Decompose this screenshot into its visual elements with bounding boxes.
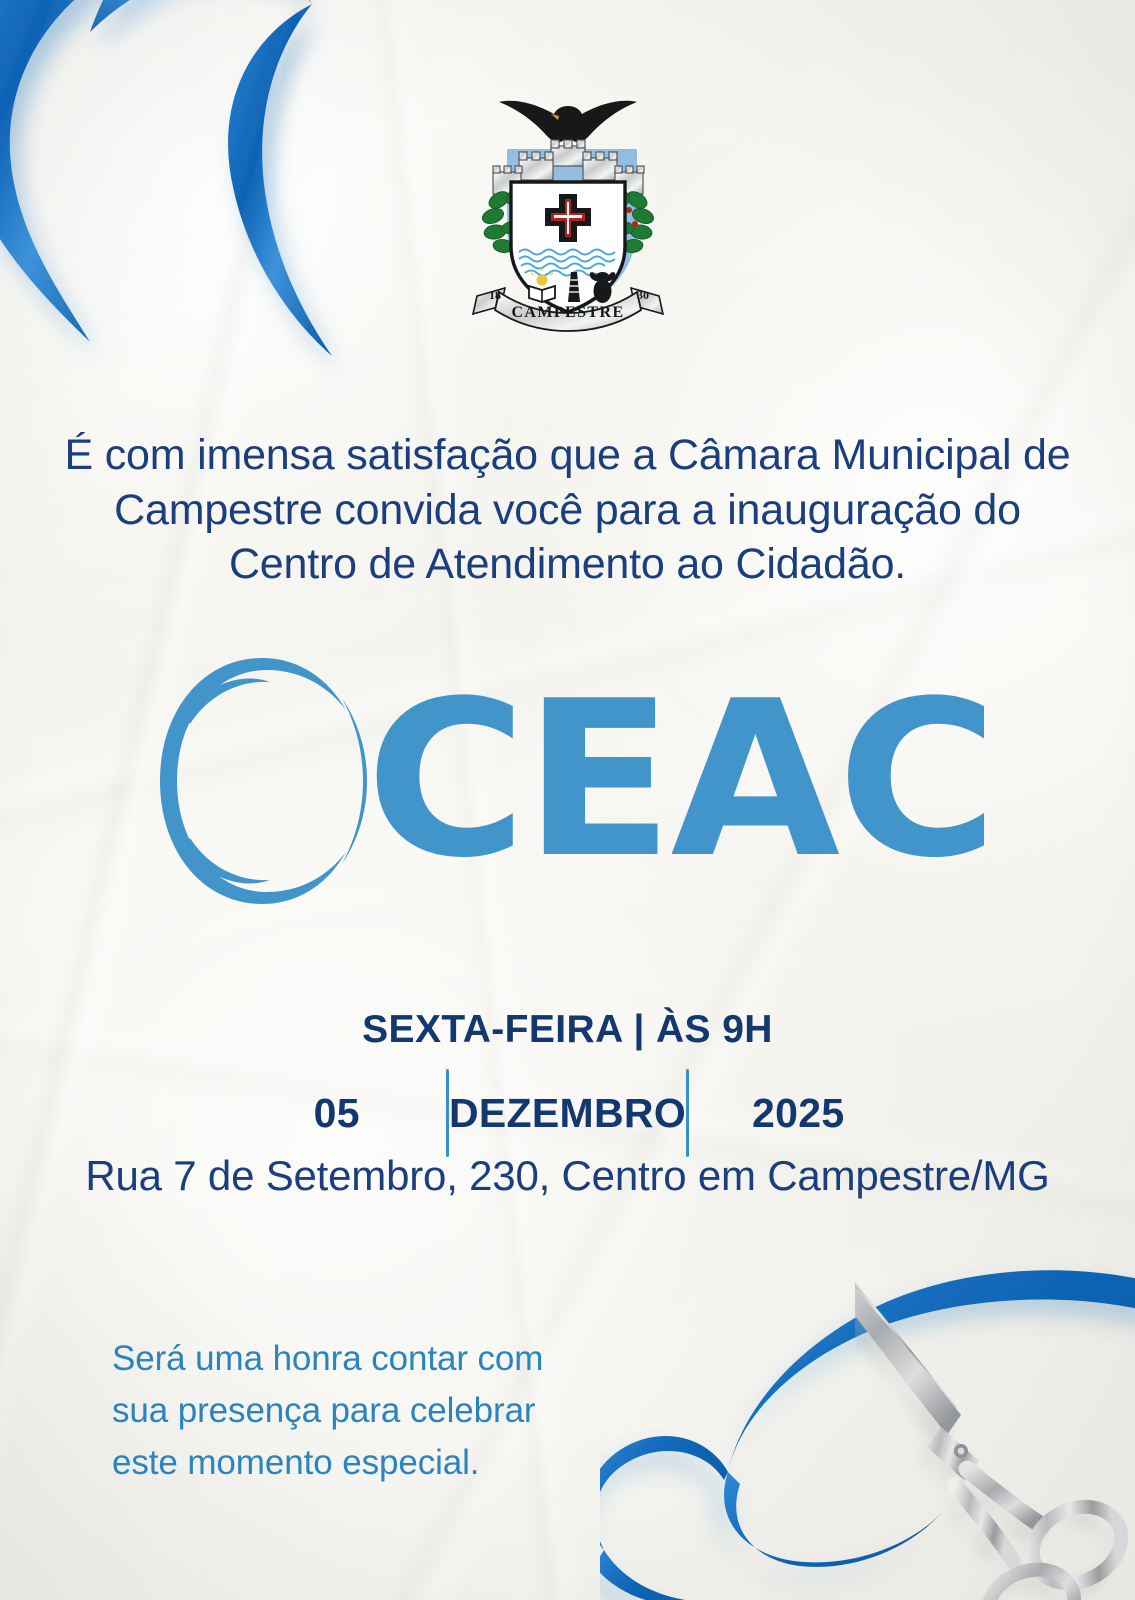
event-address: Rua 7 de Setembro, 230, Centro em Campes… <box>85 1152 1049 1200</box>
event-date-row: 05 DEZEMBRO 2025 <box>228 1082 908 1144</box>
closing-line-3: este momento especial. <box>112 1437 543 1489</box>
ceac-wordmark: CEAC <box>366 688 995 873</box>
event-year: 2025 <box>689 1090 908 1137</box>
closing-line-2: sua presença para celebrar <box>112 1385 543 1437</box>
crest-year-left: 18 <box>489 288 501 302</box>
headline-line-1: É com imensa satisfação que a Câmara Mun… <box>63 428 1073 483</box>
invitation-headline: É com imensa satisfação que a Câmara Mun… <box>63 428 1073 592</box>
event-month: DEZEMBRO <box>449 1090 686 1137</box>
closing-message: Será uma honra contar com sua presença p… <box>112 1333 543 1488</box>
campestre-coat-of-arms: CAMPESTRE 18 30 <box>463 96 673 341</box>
event-day: 05 <box>228 1090 447 1137</box>
ceac-logo: CEAC <box>63 648 1073 913</box>
invitation-poster: CAMPESTRE 18 30 É com imensa satisfação … <box>0 0 1135 1600</box>
closing-line-1: Será uma honra contar com <box>112 1333 543 1385</box>
event-weekday-time: SEXTA-FEIRA | ÀS 9H <box>362 1008 773 1052</box>
ceac-circle-mark-icon <box>146 650 378 912</box>
crest-year-right: 30 <box>637 288 649 302</box>
crest-municipality-label: CAMPESTRE <box>511 304 624 321</box>
headline-line-2: Campestre convida você para a inauguraçã… <box>63 483 1073 538</box>
headline-line-3: Centro de Atendimento ao Cidadão. <box>63 537 1073 592</box>
